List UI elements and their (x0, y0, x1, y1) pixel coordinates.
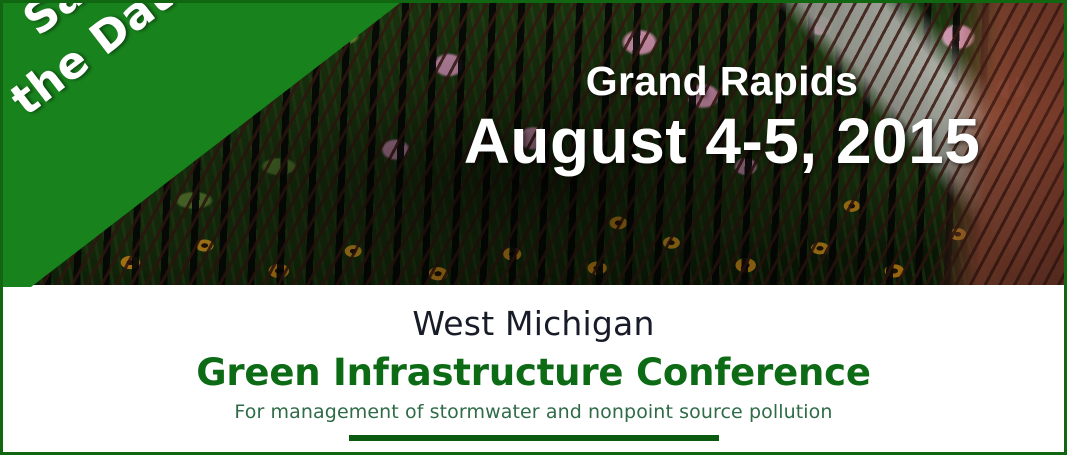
title-panel: West Michigan Green Infrastructure Confe… (3, 285, 1064, 452)
region-label: West Michigan (3, 307, 1064, 340)
dates-heading: August 4-5, 2015 (422, 108, 1022, 175)
city-heading: Grand Rapids (422, 61, 1022, 102)
conference-flyer: Save the Date! Grand Rapids August 4-5, … (0, 0, 1067, 455)
conference-title: Green Infrastructure Conference (3, 354, 1064, 391)
accent-rule (349, 435, 719, 441)
banner-headings: Grand Rapids August 4-5, 2015 (422, 61, 1022, 175)
conference-tagline: For management of stormwater and nonpoin… (3, 403, 1064, 422)
